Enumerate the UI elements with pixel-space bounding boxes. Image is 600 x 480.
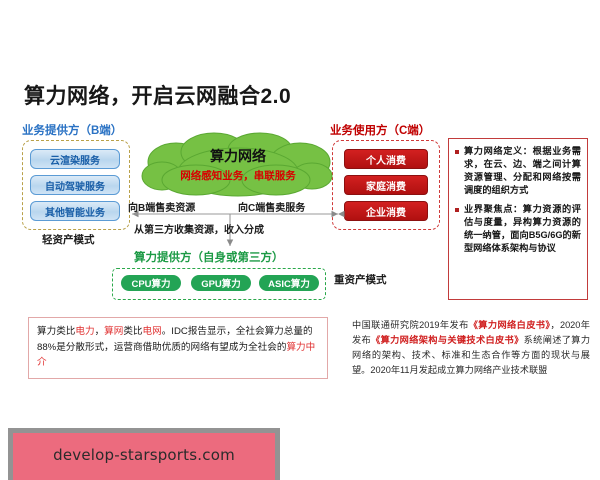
provider-item-gpu[interactable]: GPU算力 (190, 274, 252, 292)
analogy-note-box: 算力类比电力，算网类比电网。IDC报告显示，全社会算力总量的88%是分散形式，运… (28, 317, 328, 379)
b-end-item-autonomous-driving[interactable]: 自动驾驶服务 (30, 175, 120, 195)
light-asset-mode-caption: 轻资产模式 (42, 232, 95, 247)
reference-segment: 《算力网络架构与关键技术白皮书》 (371, 335, 524, 345)
note-segment: ， (95, 326, 105, 337)
note-segment: 算力 (37, 326, 56, 337)
compute-network-cloud: 算力网络 网络感知业务，串联服务 (140, 132, 336, 200)
note-segment: 类比 (56, 326, 75, 337)
definition-item: 算力网络定义：根据业务需求，在云、边、端之间计算资源管理、分配和网络按需调度的组… (455, 145, 581, 197)
flow-label-to-c-end: 向C端售卖服务 (238, 199, 305, 214)
square-bullet-icon (455, 150, 459, 154)
note-segment: 类比 (123, 326, 142, 337)
provider-heading: 算力提供方（自身或第三方） (134, 249, 284, 265)
cloud-title: 算力网络 (140, 146, 336, 166)
square-bullet-icon (455, 208, 459, 212)
page-title: 算力网络，开启云网融合2.0 (24, 80, 291, 110)
b-end-item-other-intelligent[interactable]: 其他智能业务 (30, 201, 120, 221)
cloud-shape-icon (140, 132, 336, 200)
c-end-item-enterprise[interactable]: 企业消费 (344, 201, 428, 221)
flow-label-to-b-end: 向B端售卖资源 (128, 199, 195, 214)
b-end-heading: 业务提供方（B端） (22, 122, 122, 138)
watermark-text: develop-starsports.com (53, 446, 235, 464)
note-segment: 算网 (104, 326, 123, 337)
definition-item: 业界聚焦点：算力资源的评估与度量，异构算力资源的统一纳管，面向B5G/6G的新型… (455, 203, 581, 255)
c-end-item-family[interactable]: 家庭消费 (344, 175, 428, 195)
c-end-item-personal[interactable]: 个人消费 (344, 149, 428, 169)
note-segment: 电力 (75, 326, 94, 337)
flow-label-third-party: 从第三方收集资源，收入分成 (134, 221, 264, 236)
b-end-item-cloud-render[interactable]: 云渲染服务 (30, 149, 120, 169)
reference-paragraph: 中国联通研究院2019年发布《算力网络白皮书》，2020年发布《算力网络架构与关… (352, 318, 590, 378)
provider-item-cpu[interactable]: CPU算力 (120, 274, 182, 292)
definition-item-text: 算力网络定义：根据业务需求，在云、边、端之间计算资源管理、分配和网络按需调度的组… (464, 145, 581, 197)
c-end-heading: 业务使用方（C端） (330, 122, 430, 138)
slide-canvas: 算力网络，开启云网融合2.0 业务提供方（B端） 云渲染服务 自动驾驶服务 其他… (0, 0, 600, 480)
watermark-banner: develop-starsports.com (8, 428, 280, 480)
provider-item-asic[interactable]: ASIC算力 (258, 274, 320, 292)
note-segment: 电网 (143, 326, 162, 337)
heavy-asset-mode-caption: 重资产模式 (334, 272, 387, 287)
reference-segment: 中国联通研究院2019年发布 (352, 320, 469, 330)
definition-item-text: 业界聚焦点：算力资源的评估与度量，异构算力资源的统一纳管，面向B5G/6G的新型… (464, 203, 581, 255)
analogy-note-text: 算力类比电力，算网类比电网。IDC报告显示，全社会算力总量的88%是分散形式，运… (37, 324, 319, 371)
reference-segment: 《算力网络白皮书》 (469, 320, 551, 330)
cloud-subtitle: 网络感知业务，串联服务 (140, 168, 336, 183)
definition-panel: 算力网络定义：根据业务需求，在云、边、端之间计算资源管理、分配和网络按需调度的组… (448, 138, 588, 300)
